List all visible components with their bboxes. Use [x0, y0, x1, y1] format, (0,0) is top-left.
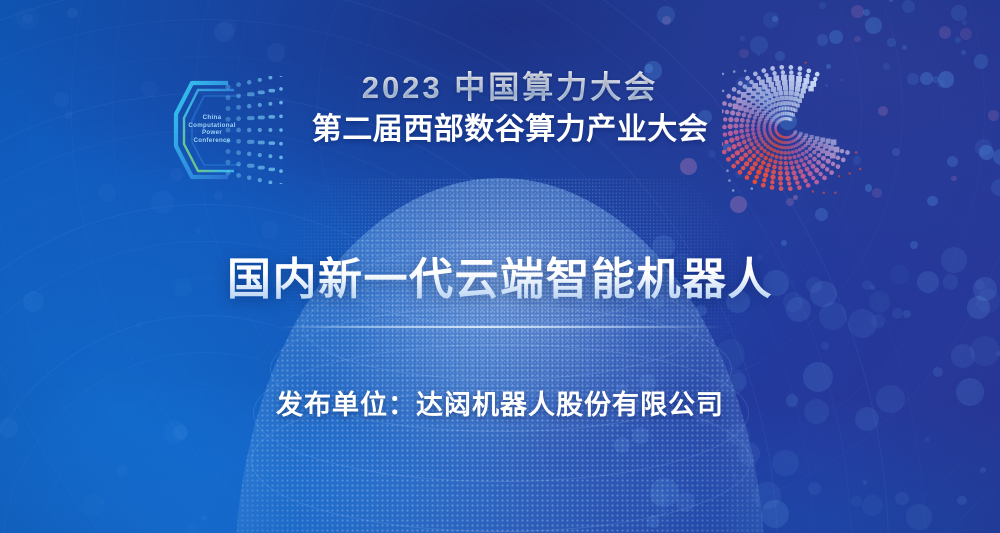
background-dot	[163, 420, 186, 443]
background-dot	[136, 321, 143, 328]
background-dot	[821, 342, 829, 350]
page-title: 国内新一代云端智能机器人	[0, 243, 1000, 307]
background-dot	[214, 22, 234, 42]
background-dot	[862, 495, 883, 516]
background-dot	[750, 36, 768, 54]
publisher-line: 发布单位：达闼机器人股份有限公司	[0, 383, 1000, 422]
background-dot	[865, 184, 872, 191]
background-dot	[817, 34, 829, 46]
background-dot	[65, 111, 73, 119]
background-dot	[761, 500, 789, 528]
background-dot	[815, 208, 828, 221]
conference-title-line-2: 第二届西部数谷算力产业大会	[300, 112, 720, 148]
spiral-dot-fan-graphic	[722, 62, 862, 194]
conference-logo: China Computational Power Conference	[172, 76, 288, 184]
conference-title-line-1: 2023 中国算力大会	[300, 70, 720, 107]
background-dot	[854, 36, 860, 42]
background-dot	[808, 482, 821, 495]
logo-dot-matrix-icon	[224, 76, 290, 184]
background-dot	[939, 26, 951, 38]
background-dot	[54, 92, 69, 107]
background-dot	[83, 494, 105, 516]
background-dot	[772, 450, 799, 477]
background-dot	[863, 9, 870, 16]
background-dot	[951, 344, 975, 368]
background-dot	[951, 5, 967, 21]
background-dot	[878, 106, 888, 116]
background-dot	[851, 5, 864, 18]
background-dot	[883, 63, 889, 69]
background-dot	[680, 158, 697, 175]
background-dot	[974, 54, 988, 68]
background-dot	[955, 37, 961, 43]
background-dot	[927, 196, 937, 206]
background-dot	[117, 465, 128, 476]
conference-header: 2023 中国算力大会 第二届西部数谷算力产业大会	[300, 70, 720, 148]
background-dot	[214, 191, 223, 200]
background-dot	[16, 7, 39, 30]
background-dot	[962, 20, 967, 25]
background-dot	[851, 496, 861, 506]
background-dot	[151, 191, 174, 214]
background-dot	[906, 504, 932, 530]
background-dot	[763, 12, 779, 28]
background-dot	[739, 49, 749, 59]
background-dot	[98, 184, 116, 202]
background-dot	[937, 80, 945, 88]
background-dot	[872, 188, 882, 198]
background-dot	[887, 38, 896, 47]
dotted-globe-graphic	[235, 178, 765, 533]
background-dot	[657, 6, 675, 24]
globe-equator-line	[279, 326, 724, 328]
background-dot	[267, 43, 286, 62]
background-dot	[933, 367, 943, 377]
background-dot	[988, 110, 998, 120]
background-dot	[903, 310, 911, 318]
background-dot	[195, 227, 202, 234]
background-dot	[186, 524, 197, 533]
background-dot	[979, 145, 993, 159]
background-dot	[793, 195, 798, 200]
presentation-slide: China Computational Power Conference 202…	[0, 0, 1000, 533]
